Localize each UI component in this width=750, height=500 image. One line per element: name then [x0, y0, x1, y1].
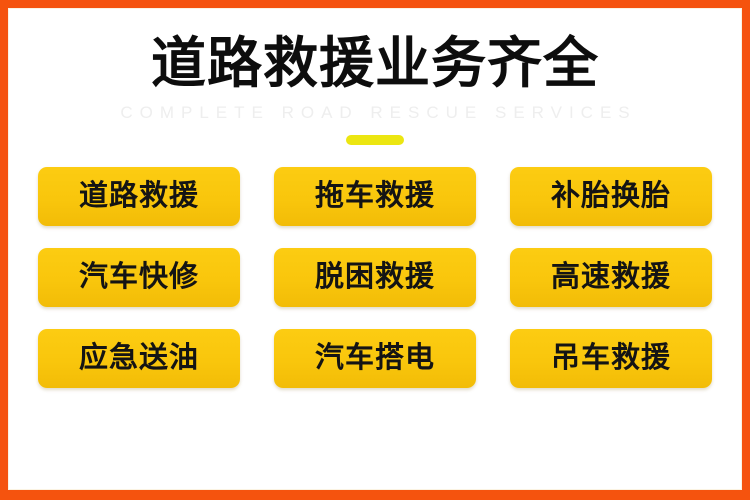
service-chip-label: 补胎换胎 [551, 182, 671, 211]
divider-pill [346, 135, 404, 145]
service-chip-emergency-fuel[interactable]: 应急送油 [38, 329, 240, 388]
service-chip-label: 高速救援 [551, 263, 671, 292]
service-chip-label: 汽车快修 [79, 263, 199, 292]
service-chip-quick-repair[interactable]: 汽车快修 [38, 248, 240, 307]
service-chip-highway-rescue[interactable]: 高速救援 [510, 248, 712, 307]
service-chip-label: 吊车救援 [551, 344, 671, 373]
service-chip-grid: 道路救援 拖车救援 补胎换胎 汽车快修 脱困救援 高速救援 应急送油 汽车搭电 [37, 146, 713, 388]
service-chip-label: 脱困救援 [315, 263, 435, 292]
service-chip-label: 道路救援 [79, 182, 199, 211]
poster-header: 道路救援业务齐全 COMPLETE ROAD RESCUE SERVICES [9, 9, 741, 146]
page-subtitle: COMPLETE ROAD RESCUE SERVICES [9, 103, 741, 123]
service-chip-road-rescue[interactable]: 道路救援 [38, 167, 240, 226]
frame-border-bottom [0, 490, 750, 500]
service-chip-crane-rescue[interactable]: 吊车救援 [510, 329, 712, 388]
service-chip-tow-rescue[interactable]: 拖车救援 [274, 167, 476, 226]
service-chip-tire-repair-change[interactable]: 补胎换胎 [510, 167, 712, 226]
promo-poster: 道路救援业务齐全 COMPLETE ROAD RESCUE SERVICES 道… [0, 0, 750, 500]
service-chip-extrication-rescue[interactable]: 脱困救援 [274, 248, 476, 307]
service-chip-label: 汽车搭电 [315, 344, 435, 373]
service-chip-label: 拖车救援 [315, 182, 435, 211]
page-title: 道路救援业务齐全 [9, 35, 741, 93]
frame-border-right [742, 0, 750, 500]
frame-border-top [0, 0, 750, 8]
poster-content: 道路救援业务齐全 COMPLETE ROAD RESCUE SERVICES 道… [9, 9, 741, 491]
title-divider [9, 134, 741, 146]
frame-border-left [0, 0, 8, 500]
service-chip-label: 应急送油 [79, 344, 199, 373]
service-chip-jump-start[interactable]: 汽车搭电 [274, 329, 476, 388]
